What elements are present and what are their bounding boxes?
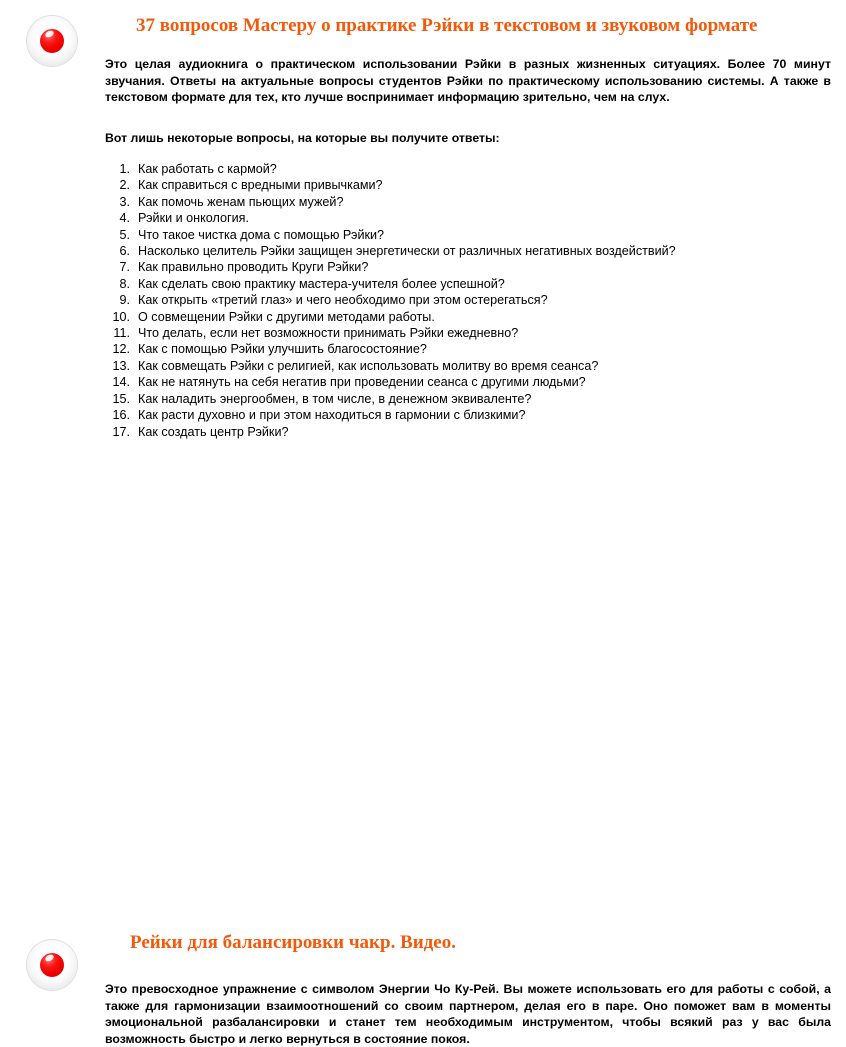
list-item: 16. Как расти духовно и при этом находит… — [0, 407, 846, 423]
section-1-intro-paragraph: Это целая аудиокнига о практическом испо… — [105, 56, 831, 106]
page-canvas: 37 вопросов Мастеру о практике Рэйки в т… — [0, 0, 846, 612]
list-item-label: Как сделать свою практику мастера-учител… — [138, 277, 505, 291]
section-2-heading: Рейки для балансировки чакр. Видео. — [130, 932, 456, 954]
list-item-number: 11. — [104, 325, 130, 341]
list-item-number: 10. — [104, 309, 130, 325]
question-list: 1. Как работать с кармой? 2. Как справит… — [0, 161, 846, 440]
list-item: 11. Что делать, если нет возможности при… — [0, 325, 846, 341]
list-item-number: 6. — [104, 243, 130, 259]
list-item-label: Как с помощью Рэйки улучшить благосостоя… — [138, 342, 427, 356]
list-item-label: Как не натянуть на себя негатив при пров… — [138, 375, 586, 389]
list-item-label: Как справиться с вредными привычками? — [138, 178, 383, 192]
orb-highlight — [44, 29, 55, 39]
section-1-lead-paragraph: Вот лишь некоторые вопросы, на которые в… — [105, 130, 831, 147]
red-glossy-orb-icon — [27, 16, 83, 72]
list-item: 9. Как открыть «третий глаз» и чего необ… — [0, 292, 846, 308]
orb-body — [27, 16, 77, 66]
list-item-label: Насколько целитель Рэйки защищен энергет… — [138, 244, 676, 258]
list-item-label: Как открыть «третий глаз» и чего необход… — [138, 293, 548, 307]
list-item: 17. Как создать центр Рэйки? — [0, 424, 846, 440]
list-item-number: 1. — [104, 161, 130, 177]
section-2-intro-paragraph: Это превосходное упражнение с символом Э… — [105, 981, 831, 1047]
list-item-label: Как правильно проводить Круги Рэйки? — [138, 260, 368, 274]
list-item-number: 2. — [104, 177, 130, 193]
list-item: 3. Как помочь женам пьющих мужей? — [0, 194, 846, 210]
list-item: 10. О совмещении Рэйки с другими методам… — [0, 309, 846, 325]
list-item-number: 5. — [104, 227, 130, 243]
list-item-label: Как работать с кармой? — [138, 162, 277, 176]
list-item: 8. Как сделать свою практику мастера-учи… — [0, 276, 846, 292]
list-item-number: 4. — [104, 210, 130, 226]
list-item: 6. Насколько целитель Рэйки защищен энер… — [0, 243, 846, 259]
red-glossy-orb-icon — [27, 940, 83, 996]
list-item-number: 16. — [104, 407, 130, 423]
list-item: 12. Как с помощью Рэйки улучшить благосо… — [0, 341, 846, 357]
list-item-label: Как наладить энергообмен, в том числе, в… — [138, 392, 531, 406]
list-item: 14. Как не натянуть на себя негатив при … — [0, 374, 846, 390]
list-item-number: 9. — [104, 292, 130, 308]
list-item-number: 8. — [104, 276, 130, 292]
list-item-label: О совмещении Рэйки с другими методами ра… — [138, 310, 435, 324]
list-item-label: Рэйки и онкология. — [138, 211, 249, 225]
list-item-number: 13. — [104, 358, 130, 374]
list-item: 1. Как работать с кармой? — [0, 161, 846, 177]
section-1-heading: 37 вопросов Мастеру о практике Рэйки в т… — [136, 15, 758, 37]
list-item-label: Как создать центр Рэйки? — [138, 425, 289, 439]
list-item-label: Как совмещать Рэйки с религией, как испо… — [138, 359, 598, 373]
list-item: 7. Как правильно проводить Круги Рэйки? — [0, 259, 846, 275]
list-item-label: Что такое чистка дома с помощью Рэйки? — [138, 228, 384, 242]
list-item-number: 17. — [104, 424, 130, 440]
list-item-label: Как расти духовно и при этом находиться … — [138, 408, 525, 422]
list-item: 13. Как совмещать Рэйки с религией, как … — [0, 358, 846, 374]
list-item-label: Как помочь женам пьющих мужей? — [138, 195, 343, 209]
list-item: 15. Как наладить энергообмен, в том числ… — [0, 391, 846, 407]
list-item: 4. Рэйки и онкология. — [0, 210, 846, 226]
list-item: 2. Как справиться с вредными привычками? — [0, 177, 846, 193]
list-item-number: 15. — [104, 391, 130, 407]
list-item-label: Что делать, если нет возможности принима… — [138, 326, 518, 340]
list-item-number: 14. — [104, 374, 130, 390]
list-item-number: 7. — [104, 259, 130, 275]
list-item-number: 3. — [104, 194, 130, 210]
list-item: 5. Что такое чистка дома с помощью Рэйки… — [0, 227, 846, 243]
orb-highlight — [44, 953, 55, 963]
orb-body — [27, 940, 77, 990]
list-item-number: 12. — [104, 341, 130, 357]
